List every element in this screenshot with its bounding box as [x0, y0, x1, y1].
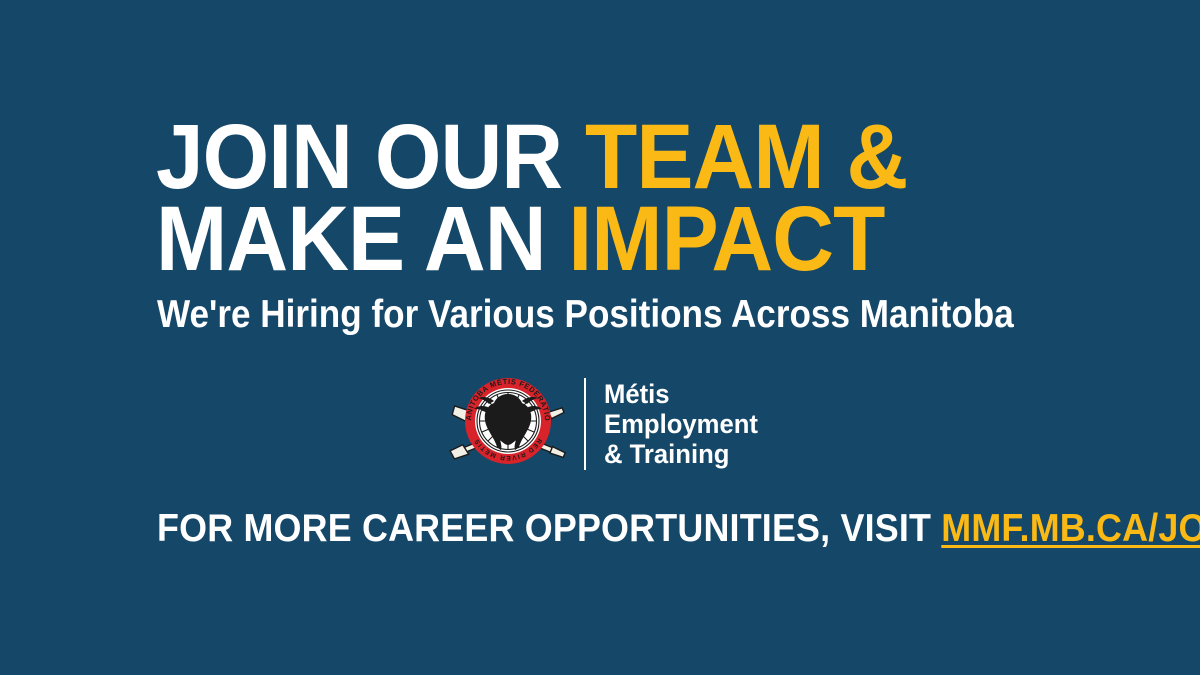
- logo-wordmark-line-1: Métis: [604, 379, 758, 409]
- cta-url-link[interactable]: MMF.MB.CA/JOBS: [941, 507, 1200, 550]
- logo-lockup: MANITOBA MÉTIS FEDERATION RED RIVER METI…: [444, 374, 766, 474]
- logo-wordmark-line-2: Employment: [604, 409, 758, 439]
- cta-prefix: FOR MORE CAREER OPPORTUNITIES, VISIT: [157, 507, 941, 550]
- headline: JOIN OUR TEAM & MAKE AN IMPACT: [156, 116, 1076, 280]
- logo-wordmark: Métis Employment & Training: [604, 379, 758, 469]
- headline-line-2: MAKE AN IMPACT: [156, 198, 1012, 280]
- logo-wordmark-line-3: & Training: [604, 439, 758, 469]
- subheadline: We're Hiring for Various Positions Acros…: [157, 294, 1014, 336]
- headline-line-2-accent: IMPACT: [568, 188, 884, 290]
- mmf-seal-icon: MANITOBA MÉTIS FEDERATION RED RIVER METI…: [444, 374, 572, 474]
- logo-divider: [584, 378, 586, 470]
- recruitment-poster: JOIN OUR TEAM & MAKE AN IMPACT We're Hir…: [0, 0, 1200, 675]
- headline-line-1: JOIN OUR TEAM &: [156, 116, 1012, 198]
- cta-line: FOR MORE CAREER OPPORTUNITIES, VISIT MMF…: [157, 508, 1200, 550]
- headline-line-2-white: MAKE AN: [156, 188, 568, 290]
